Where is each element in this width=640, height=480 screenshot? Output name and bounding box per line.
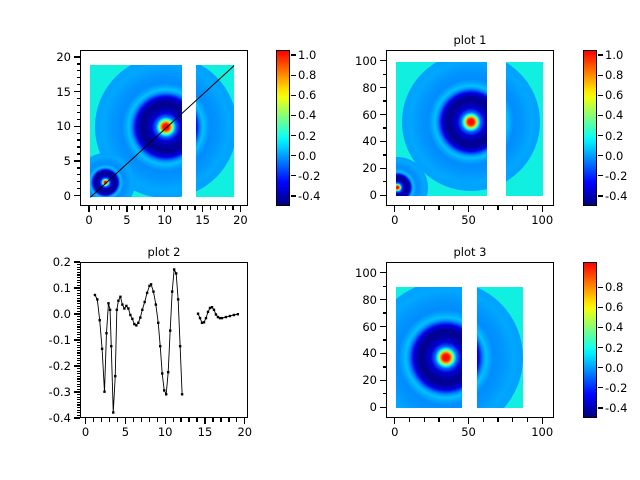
plot-3-image-plot-xtick xyxy=(542,418,543,424)
plot-2-line-plot-yticklabel: 0.0 xyxy=(18,308,71,320)
data-point-marker xyxy=(96,298,98,300)
data-point-marker xyxy=(161,372,163,374)
top-left-image-plot-yminortick xyxy=(77,174,81,175)
data-point-marker xyxy=(165,393,167,395)
top-left-image-plot-xminortick xyxy=(141,206,142,210)
plot-2-line-plot-yminortick xyxy=(77,399,81,400)
top-left-image-plot-colorbar-ticklabel: 0.6 xyxy=(298,89,316,101)
data-point-marker xyxy=(229,315,231,317)
plot-3-image-plot-yticklabel: 100 xyxy=(324,267,377,279)
plot-1-image-plot-colorbar-ticklabel: 0.2 xyxy=(605,130,623,142)
top-left-image-plot-colorbar-tick xyxy=(291,95,296,96)
plot-3-image-plot-yticklabel: 40 xyxy=(324,347,377,359)
plot-3-image-plot-colorbar-gradient xyxy=(584,263,596,417)
plot-2-line-plot-yminortick xyxy=(77,342,81,343)
top-left-image-plot-xminortick xyxy=(194,206,195,210)
top-left-image-plot-xminortick xyxy=(232,206,233,210)
plot-2-line-plot-yminortick xyxy=(77,274,81,275)
plot-2-line-plot-title: plot 2 xyxy=(80,246,248,259)
plot-1-image-plot-colorbar[interactable] xyxy=(583,50,597,206)
plot-2-line-plot-xminortick xyxy=(180,418,181,422)
top-left-image-plot-xtick xyxy=(164,206,165,212)
top-left-image-plot-ytick xyxy=(74,56,80,57)
plot-3-image-plot-colorbar-tick xyxy=(598,327,603,328)
plot-1-image-plot-image-region xyxy=(506,62,543,196)
figure-canvas: 05101520051015201.00.80.60.40.20.0-0.2-0… xyxy=(0,0,640,480)
plot-2-line-plot-ytick xyxy=(74,417,80,418)
plot-3-image-plot-source-blob xyxy=(396,287,462,409)
plot-3-image-plot-colorbar-tick xyxy=(598,287,603,288)
data-point-marker xyxy=(179,345,181,347)
plot-2-line-plot-yticklabel: -0.1 xyxy=(18,334,71,346)
plot-3-image-plot-colorbar-ticklabel: -0.2 xyxy=(605,382,627,394)
top-left-image-plot-xminortick xyxy=(96,206,97,210)
top-left-image-plot-colorbar-gradient xyxy=(277,51,289,205)
plot-3-image-plot-colorbar-ticklabel: 0.0 xyxy=(605,362,623,374)
plot-2-line-plot-yminortick xyxy=(77,358,81,359)
top-left-image-plot-xminortick xyxy=(172,206,173,210)
plot-2-line-plot-ytick xyxy=(74,313,80,314)
plot-1-image-plot-xminortick xyxy=(497,206,498,210)
plot-3-image-plot-ytick xyxy=(380,326,386,327)
data-point-marker xyxy=(155,303,157,305)
plot-2-line-plot-yminortick xyxy=(77,404,81,405)
top-left-image-plot-yticklabel: 0 xyxy=(18,190,71,202)
plot-1-image-plot-colorbar-tick xyxy=(598,175,603,176)
top-left-image-plot-xminortick xyxy=(187,206,188,210)
plot-1-image-plot-xminortick xyxy=(453,206,454,210)
top-left-image-plot-xminortick xyxy=(210,206,211,210)
plot-2-line-plot-series-canvas xyxy=(81,263,248,418)
data-point-marker xyxy=(237,313,239,315)
plot-3-image-plot-title: plot 3 xyxy=(386,246,554,259)
plot-2-line-plot-yminortick xyxy=(77,326,81,327)
data-point-marker xyxy=(109,309,111,311)
top-left-image-plot-yticklabel: 10 xyxy=(18,120,71,132)
top-left-image-plot-xminortick xyxy=(179,206,180,210)
plot-2-line-plot-yminortick xyxy=(77,308,81,309)
data-point-marker xyxy=(173,268,175,270)
plot-1-image-plot-colorbar-tick xyxy=(598,75,603,76)
data-point-marker xyxy=(221,317,223,319)
top-left-image-plot-colorbar-ticklabel: 0.4 xyxy=(298,109,316,121)
plot-3-image-plot-colorbar-ticklabel: -0.4 xyxy=(605,402,627,414)
plot-3-image-plot-xticklabel: 50 xyxy=(443,426,495,438)
data-point-marker xyxy=(116,309,118,311)
plot-3-image-plot-ytick xyxy=(380,407,386,408)
top-left-image-plot-yticklabel: 15 xyxy=(18,86,71,98)
plot-2-line-plot-xtick xyxy=(85,418,86,424)
plot-1-image-plot-xticklabel: 50 xyxy=(443,214,495,226)
top-left-image-plot-yminortick xyxy=(77,112,81,113)
plot-1-image-plot-colorbar-tick xyxy=(598,155,603,156)
plot-3-image-plot-ytick xyxy=(380,380,386,381)
data-point-marker xyxy=(125,305,127,307)
data-point-marker xyxy=(123,307,125,309)
top-left-image-plot-xminortick xyxy=(111,206,112,210)
plot-3-image-plot-yticklabel: 60 xyxy=(324,321,377,333)
plot-3-image-plot-xminortick xyxy=(512,418,513,422)
data-point-marker xyxy=(121,303,123,305)
data-point-marker xyxy=(114,375,116,377)
plot-2-line-plot-xticklabel: 20 xyxy=(219,426,271,438)
plot-1-image-plot-colorbar-tick xyxy=(598,135,603,136)
plot-1-image-plot-image-region xyxy=(396,62,487,196)
top-left-image-plot-colorbar-ticklabel: 0.2 xyxy=(298,130,316,142)
plot-1-image-plot-yticklabel: 80 xyxy=(324,82,377,94)
plot-3-image-plot-ytick xyxy=(380,353,386,354)
plot-2-line-plot-yminortick xyxy=(77,329,81,330)
data-point-marker xyxy=(211,306,213,308)
top-left-image-plot-xtick xyxy=(240,206,241,212)
data-point-marker xyxy=(110,345,112,347)
data-point-marker xyxy=(169,329,171,331)
data-point-marker xyxy=(129,314,131,316)
data-point-marker xyxy=(152,290,154,292)
top-left-image-plot-xminortick xyxy=(134,206,135,210)
plot-3-image-plot-xminortick xyxy=(424,418,425,422)
data-point-marker xyxy=(139,316,141,318)
plot-2-line-plot-yminortick xyxy=(77,410,81,411)
top-left-image-plot-xticklabel: 20 xyxy=(214,214,266,226)
top-left-image-plot-yminortick xyxy=(77,77,81,78)
plot-2-line-plot-xminortick xyxy=(173,418,174,422)
plot-1-image-plot-colorbar-ticklabel: 0.8 xyxy=(605,69,623,81)
data-point-marker xyxy=(171,290,173,292)
plot-2-line-plot-xminortick xyxy=(93,418,94,422)
plot-2-line-plot-yminortick xyxy=(77,272,81,273)
data-point-marker xyxy=(99,319,101,321)
plot-2-line-plot-yminortick xyxy=(77,264,81,265)
data-point-marker xyxy=(107,302,109,304)
plot-2-line-plot-yminortick xyxy=(77,295,81,296)
data-point-marker xyxy=(177,298,179,300)
plot-1-image-plot-ytick xyxy=(380,168,386,169)
data-point-marker xyxy=(175,272,177,274)
top-left-image-plot-xtick xyxy=(202,206,203,212)
top-left-image-plot-colorbar-ticklabel: 1.0 xyxy=(298,49,316,61)
plot-2-line-plot-xminortick xyxy=(220,418,221,422)
plot-2-line-plot-xtick xyxy=(165,418,166,424)
plot-2-line-plot-yminortick xyxy=(77,300,81,301)
plot-1-image-plot-colorbar-ticklabel: 1.0 xyxy=(605,49,623,61)
plot-2-line-plot-xminortick xyxy=(133,418,134,422)
plot-1-image-plot-colorbar-tick xyxy=(598,115,603,116)
top-left-image-plot-ytick xyxy=(74,126,80,127)
line-series-segment-b xyxy=(198,307,238,323)
data-point-marker xyxy=(199,317,201,319)
plot-2-line-plot-yminortick xyxy=(77,389,81,390)
plot-2-line-plot-yminortick xyxy=(77,267,81,268)
plot-3-image-plot-image-region xyxy=(477,287,523,409)
plot-2-line-plot-xminortick xyxy=(196,418,197,422)
plot-1-image-plot-colorbar-tick xyxy=(598,195,603,196)
plot-1-image-plot-yminortick xyxy=(383,154,387,155)
top-left-image-plot-yminortick xyxy=(77,146,81,147)
plot-3-image-plot-colorbar-tick xyxy=(598,347,603,348)
plot-1-image-plot-yminortick xyxy=(383,127,387,128)
plot-1-image-plot-source-blob xyxy=(402,62,487,191)
plot-2-line-plot-yminortick xyxy=(77,363,81,364)
plot-2-line-plot-xminortick xyxy=(188,418,189,422)
data-point-marker xyxy=(181,393,183,395)
plot-3-image-plot-xticklabel: 0 xyxy=(369,426,421,438)
plot-2-line-plot-yminortick xyxy=(77,373,81,374)
plot-1-image-plot-yticklabel: 100 xyxy=(324,55,377,67)
plot-2-line-plot-yminortick xyxy=(77,360,81,361)
data-point-marker xyxy=(233,314,235,316)
plot-3-image-plot-yminortick xyxy=(383,339,387,340)
top-left-image-plot-xminortick xyxy=(119,206,120,210)
plot-3-image-plot-source-blob xyxy=(477,287,523,409)
plot-3-image-plot-colorbar-ticklabel: 0.6 xyxy=(605,301,623,313)
data-point-marker xyxy=(146,292,148,294)
plot-2-line-plot-yminortick xyxy=(77,316,81,317)
data-point-marker xyxy=(213,309,215,311)
data-point-marker xyxy=(150,283,152,285)
plot-2-line-plot-yminortick xyxy=(77,412,81,413)
top-left-image-plot-xtick xyxy=(88,206,89,212)
plot-2-line-plot-ytick xyxy=(74,261,80,262)
top-left-image-plot-yminortick xyxy=(77,70,81,71)
plot-3-image-plot-yminortick xyxy=(383,366,387,367)
plot-2-line-plot-yminortick xyxy=(77,397,81,398)
plot-2-line-plot-xminortick xyxy=(149,418,150,422)
top-left-image-plot-image-region xyxy=(90,65,182,197)
plot-2-line-plot-yticklabel: -0.3 xyxy=(18,386,71,398)
plot-3-image-plot-ytick xyxy=(380,272,386,273)
plot-3-image-plot-axes xyxy=(386,262,554,418)
plot-2-line-plot-yminortick xyxy=(77,384,81,385)
plot-1-image-plot-source-blob xyxy=(506,62,540,191)
plot-3-image-plot-yticklabel: 0 xyxy=(324,401,377,413)
plot-2-line-plot-yminortick xyxy=(77,394,81,395)
plot-1-image-plot-source-blob xyxy=(396,157,428,196)
plot-1-image-plot-yminortick xyxy=(383,181,387,182)
top-left-image-plot-ytick xyxy=(74,160,80,161)
plot-2-line-plot-xminortick xyxy=(236,418,237,422)
plot-2-line-plot-xminortick xyxy=(212,418,213,422)
plot-2-line-plot-yminortick xyxy=(77,280,81,281)
top-left-image-plot-yminortick xyxy=(77,63,81,64)
plot-2-line-plot-yticklabel: -0.4 xyxy=(18,412,71,424)
plot-2-line-plot-yminortick xyxy=(77,269,81,270)
top-left-image-plot-ytick xyxy=(74,91,80,92)
plot-3-image-plot-ytick xyxy=(380,299,386,300)
plot-3-image-plot-colorbar-ticklabel: 0.4 xyxy=(605,321,623,333)
top-left-image-plot-xminortick xyxy=(149,206,150,210)
plot-2-line-plot-yticklabel: 0.1 xyxy=(18,282,71,294)
top-left-image-plot-colorbar-ticklabel: -0.4 xyxy=(298,190,320,202)
plot-2-line-plot-yminortick xyxy=(77,321,81,322)
plot-2-line-plot-xminortick xyxy=(117,418,118,422)
plot-2-line-plot-ytick xyxy=(74,365,80,366)
data-point-marker xyxy=(197,313,199,315)
plot-3-image-plot-xminortick xyxy=(409,418,410,422)
plot-3-image-plot-yticklabel: 20 xyxy=(324,374,377,386)
top-left-image-plot-yminortick xyxy=(77,133,81,134)
plot-3-image-plot-yminortick xyxy=(383,312,387,313)
top-left-image-plot-xminortick xyxy=(217,206,218,210)
plot-1-image-plot-yticklabel: 40 xyxy=(324,135,377,147)
plot-1-image-plot-xticklabel: 0 xyxy=(369,214,421,226)
data-point-marker xyxy=(167,371,169,373)
plot-3-image-plot-colorbar-ticklabel: 0.2 xyxy=(605,342,623,354)
plot-2-line-plot-yminortick xyxy=(77,415,81,416)
plot-1-image-plot-xminortick xyxy=(409,206,410,210)
top-left-image-plot-source-blob xyxy=(95,65,182,197)
plot-1-image-plot-ytick xyxy=(380,87,386,88)
plot-3-image-plot-yticklabel: 80 xyxy=(324,294,377,306)
plot-2-line-plot-xminortick xyxy=(157,418,158,422)
plot-2-line-plot-yminortick xyxy=(77,402,81,403)
plot-2-line-plot-ytick xyxy=(74,391,80,392)
data-point-marker xyxy=(127,307,129,309)
top-left-image-plot-yminortick xyxy=(77,119,81,120)
plot-1-image-plot-colorbar-tick xyxy=(598,95,603,96)
plot-2-line-plot-yminortick xyxy=(77,378,81,379)
data-point-marker xyxy=(94,294,96,296)
plot-1-image-plot-xtick xyxy=(468,206,469,212)
data-point-marker xyxy=(117,300,119,302)
plot-2-line-plot-yminortick xyxy=(77,350,81,351)
plot-2-line-plot-yticklabel: 0.2 xyxy=(18,256,71,268)
plot-1-image-plot-yticklabel: 60 xyxy=(324,109,377,121)
plot-2-line-plot-yminortick xyxy=(77,355,81,356)
data-point-marker xyxy=(207,311,209,313)
top-left-image-plot-colorbar-ticklabel: -0.2 xyxy=(298,170,320,182)
top-left-image-plot-colorbar-tick xyxy=(291,175,296,176)
line-series-segment-a xyxy=(95,270,182,413)
plot-2-line-plot-xminortick xyxy=(228,418,229,422)
plot-1-image-plot-xminortick xyxy=(483,206,484,210)
plot-1-image-plot-xminortick xyxy=(424,206,425,210)
plot-2-line-plot-xtick xyxy=(125,418,126,424)
plot-2-line-plot-yminortick xyxy=(77,324,81,325)
data-point-marker xyxy=(135,324,137,326)
top-left-image-plot-yminortick xyxy=(77,105,81,106)
plot-2-line-plot-yminortick xyxy=(77,386,81,387)
plot-3-image-plot-xminortick xyxy=(438,418,439,422)
top-left-image-plot-image-region xyxy=(196,65,234,197)
data-point-marker xyxy=(215,313,217,315)
top-left-image-plot-xminortick xyxy=(104,206,105,210)
plot-3-image-plot-colorbar-tick xyxy=(598,307,603,308)
plot-3-image-plot-colorbar-tick xyxy=(598,367,603,368)
data-point-marker xyxy=(225,316,227,318)
plot-2-line-plot-yminortick xyxy=(77,319,81,320)
top-left-image-plot-yminortick xyxy=(77,98,81,99)
plot-2-line-plot-xtick xyxy=(244,418,245,424)
plot-3-image-plot-image-region xyxy=(396,287,462,409)
plot-3-image-plot-colorbar[interactable] xyxy=(583,262,597,418)
top-left-image-plot-axes xyxy=(80,50,248,206)
plot-2-line-plot-yminortick xyxy=(77,371,81,372)
data-point-marker xyxy=(163,389,165,391)
data-point-marker xyxy=(103,391,105,393)
top-left-image-plot-xminortick xyxy=(225,206,226,210)
plot-2-line-plot-ytick xyxy=(74,287,80,288)
plot-2-line-plot-yminortick xyxy=(77,407,81,408)
plot-3-image-plot-colorbar-tick xyxy=(598,387,603,388)
plot-3-image-plot-xminortick xyxy=(497,418,498,422)
plot-3-image-plot-xtick xyxy=(394,418,395,424)
plot-1-image-plot-ytick xyxy=(380,141,386,142)
plot-1-image-plot-xticklabel: 100 xyxy=(516,214,568,226)
plot-2-line-plot-yticklabel: -0.2 xyxy=(18,360,71,372)
top-left-image-plot-colorbar-ticklabel: 0.8 xyxy=(298,69,316,81)
plot-2-line-plot-axes xyxy=(80,262,248,418)
plot-1-image-plot-xminortick xyxy=(512,206,513,210)
plot-3-image-plot-xtick xyxy=(468,418,469,424)
plot-2-line-plot-yminortick xyxy=(77,290,81,291)
top-left-image-plot-yticklabel: 5 xyxy=(18,155,71,167)
plot-1-image-plot-xminortick xyxy=(438,206,439,210)
plot-2-line-plot-yminortick xyxy=(77,334,81,335)
top-left-image-plot-colorbar-tick xyxy=(291,75,296,76)
plot-2-line-plot-yminortick xyxy=(77,311,81,312)
plot-2-line-plot-xminortick xyxy=(141,418,142,422)
data-point-marker xyxy=(137,322,139,324)
top-left-image-plot-colorbar-tick xyxy=(291,155,296,156)
plot-3-image-plot-xminortick xyxy=(527,418,528,422)
plot-1-image-plot-colorbar-gradient xyxy=(584,51,596,205)
top-left-image-plot-colorbar-tick xyxy=(291,115,296,116)
top-left-image-plot-colorbar-ticklabel: 0.0 xyxy=(298,150,316,162)
plot-1-image-plot-ytick xyxy=(380,195,386,196)
plot-1-image-plot-ytick xyxy=(380,60,386,61)
plot-1-image-plot-colorbar-ticklabel: 0.4 xyxy=(605,109,623,121)
plot-2-line-plot-yminortick xyxy=(77,285,81,286)
top-left-image-plot-colorbar-tick xyxy=(291,195,296,196)
plot-2-line-plot-ytick xyxy=(74,339,80,340)
plot-2-line-plot-yminortick xyxy=(77,282,81,283)
plot-2-line-plot-yminortick xyxy=(77,347,81,348)
plot-2-line-plot-yminortick xyxy=(77,345,81,346)
data-point-marker xyxy=(101,348,103,350)
top-left-image-plot-yminortick xyxy=(77,139,81,140)
plot-2-line-plot-yminortick xyxy=(77,352,81,353)
data-point-marker xyxy=(119,296,121,298)
top-left-image-plot-xtick xyxy=(126,206,127,212)
data-point-marker xyxy=(203,321,205,323)
data-point-marker xyxy=(141,309,143,311)
plot-1-image-plot-xtick xyxy=(394,206,395,212)
plot-1-image-plot-colorbar-ticklabel: 0.6 xyxy=(605,89,623,101)
data-point-marker xyxy=(112,411,114,413)
plot-1-image-plot-title: plot 1 xyxy=(386,34,554,47)
data-point-marker xyxy=(105,332,107,334)
plot-2-line-plot-yminortick xyxy=(77,303,81,304)
data-point-marker xyxy=(157,322,159,324)
plot-1-image-plot-colorbar-ticklabel: 0.0 xyxy=(605,150,623,162)
top-left-image-plot-source-blob xyxy=(196,65,234,197)
plot-1-image-plot-colorbar-ticklabel: -0.4 xyxy=(605,190,627,202)
plot-3-image-plot-yminortick xyxy=(383,286,387,287)
top-left-image-plot-xminortick xyxy=(157,206,158,210)
data-point-marker xyxy=(144,301,146,303)
plot-2-line-plot-yminortick xyxy=(77,332,81,333)
plot-2-line-plot-yminortick xyxy=(77,368,81,369)
plot-3-image-plot-xminortick xyxy=(453,418,454,422)
data-point-marker xyxy=(205,317,207,319)
top-left-image-plot-colorbar[interactable] xyxy=(276,50,290,206)
plot-2-line-plot-yminortick xyxy=(77,376,81,377)
plot-1-image-plot-axes xyxy=(386,50,554,206)
top-left-image-plot-yminortick xyxy=(77,84,81,85)
plot-1-image-plot-xminortick xyxy=(527,206,528,210)
plot-2-line-plot-yminortick xyxy=(77,306,81,307)
